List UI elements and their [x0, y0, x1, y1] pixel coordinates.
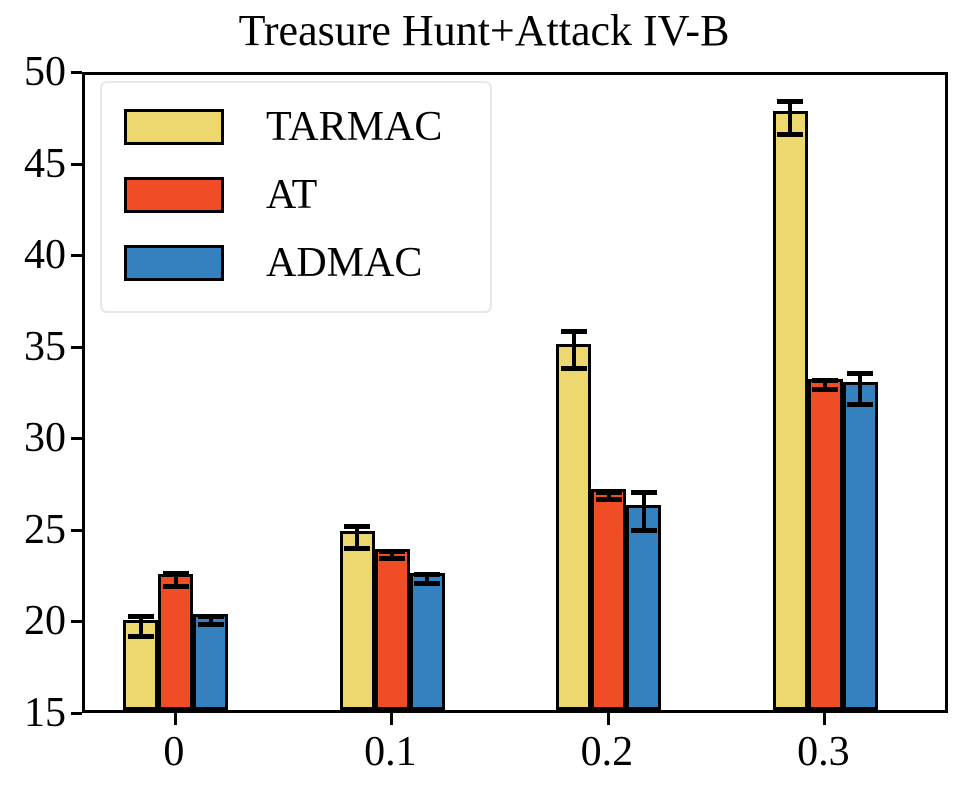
- y-axis-tick-label: 35: [24, 326, 66, 368]
- bar-at-0.1: [375, 549, 410, 710]
- errorbar-tarmac-0: [139, 616, 143, 636]
- y-axis-tick: [71, 254, 82, 257]
- bar-admac-0.1: [410, 573, 445, 710]
- errorbar-cap-at-0-lower: [163, 584, 189, 589]
- bar-at-0: [158, 574, 193, 710]
- errorbar-admac-0.2: [642, 492, 646, 530]
- y-axis-tick-label: 45: [24, 143, 66, 185]
- legend-swatch-admac: [124, 245, 224, 281]
- errorbar-cap-admac-0.2-upper: [631, 490, 657, 495]
- y-axis-tick: [71, 163, 82, 166]
- errorbar-tarmac-0.1: [355, 526, 359, 548]
- errorbar-cap-tarmac-0.1-upper: [344, 524, 370, 529]
- y-axis-tick: [71, 437, 82, 440]
- y-axis-tick-label: 25: [24, 509, 66, 551]
- x-axis-tick-label: 0.3: [753, 729, 893, 775]
- errorbar-admac-0.3: [858, 373, 862, 404]
- errorbar-cap-tarmac-0.2-lower: [561, 366, 587, 371]
- errorbar-cap-at-0-upper: [163, 571, 189, 576]
- y-axis-tick: [71, 620, 82, 623]
- chart-legend: TARMACATADMAC: [100, 81, 492, 313]
- errorbar-cap-tarmac-0-lower: [128, 634, 154, 639]
- bar-admac-0: [193, 614, 228, 710]
- y-axis-tick: [71, 712, 82, 715]
- errorbar-cap-at-0.1-upper: [379, 549, 405, 554]
- legend-item-at[interactable]: AT: [124, 169, 317, 221]
- errorbar-cap-admac-0-lower: [198, 622, 224, 627]
- errorbar-cap-admac-0.2-lower: [631, 528, 657, 533]
- errorbar-cap-at-0.2-lower: [596, 497, 622, 502]
- errorbar-tarmac-0.2: [572, 331, 576, 368]
- x-axis-tick: [607, 713, 610, 725]
- x-axis-tick: [823, 713, 826, 725]
- y-axis-tick: [71, 71, 82, 74]
- chart-title: Treasure Hunt+Attack IV-B: [0, 2, 968, 60]
- x-axis-tick-group: 00.10.20.3: [82, 713, 948, 793]
- y-axis-tick: [71, 346, 82, 349]
- legend-label-tarmac: TARMAC: [266, 105, 442, 149]
- bar-admac-0.2: [626, 505, 661, 710]
- y-axis-tick-label: 40: [24, 234, 66, 276]
- legend-swatch-at: [124, 177, 224, 213]
- errorbar-cap-tarmac-0.2-upper: [561, 329, 587, 334]
- x-axis-tick-label: 0.1: [320, 729, 460, 775]
- x-axis-tick-label: 0: [104, 729, 244, 775]
- errorbar-cap-at-0.1-lower: [379, 556, 405, 561]
- y-axis-tick-label: 20: [24, 600, 66, 642]
- errorbar-cap-at-0.2-upper: [596, 490, 622, 495]
- errorbar-cap-admac-0-upper: [198, 614, 224, 619]
- figure-canvas: Treasure Hunt+Attack IV-B 50454035302520…: [0, 0, 968, 794]
- errorbar-tarmac-0.3: [788, 101, 792, 134]
- bar-tarmac-0.2: [556, 344, 591, 710]
- errorbar-cap-tarmac-0.3-lower: [777, 132, 803, 137]
- errorbar-cap-admac-0.1-upper: [414, 572, 440, 577]
- legend-item-tarmac[interactable]: TARMAC: [124, 101, 442, 153]
- bar-tarmac-0.1: [340, 531, 375, 710]
- errorbar-cap-tarmac-0.1-lower: [344, 546, 370, 551]
- bar-at-0.2: [591, 489, 626, 710]
- errorbar-cap-admac-0.1-lower: [414, 581, 440, 586]
- legend-swatch-tarmac: [124, 109, 224, 145]
- x-axis-tick-label: 0.2: [537, 729, 677, 775]
- errorbar-cap-tarmac-0-upper: [128, 614, 154, 619]
- errorbar-cap-at-0.3-upper: [812, 378, 838, 383]
- bar-at-0.3: [808, 379, 843, 710]
- x-axis-tick: [174, 713, 177, 725]
- bar-tarmac-0.3: [773, 111, 808, 710]
- legend-label-admac: ADMAC: [266, 241, 422, 285]
- errorbar-cap-admac-0.3-lower: [847, 402, 873, 407]
- legend-item-admac[interactable]: ADMAC: [124, 237, 422, 289]
- y-axis-tick-label: 15: [24, 692, 66, 734]
- y-axis-tick-label: 30: [24, 417, 66, 459]
- errorbar-cap-tarmac-0.3-upper: [777, 99, 803, 104]
- legend-label-at: AT: [266, 173, 317, 217]
- errorbar-cap-at-0.3-lower: [812, 387, 838, 392]
- errorbar-cap-admac-0.3-upper: [847, 371, 873, 376]
- bar-admac-0.3: [843, 382, 878, 710]
- x-axis-tick: [390, 713, 393, 725]
- y-axis-tick: [71, 529, 82, 532]
